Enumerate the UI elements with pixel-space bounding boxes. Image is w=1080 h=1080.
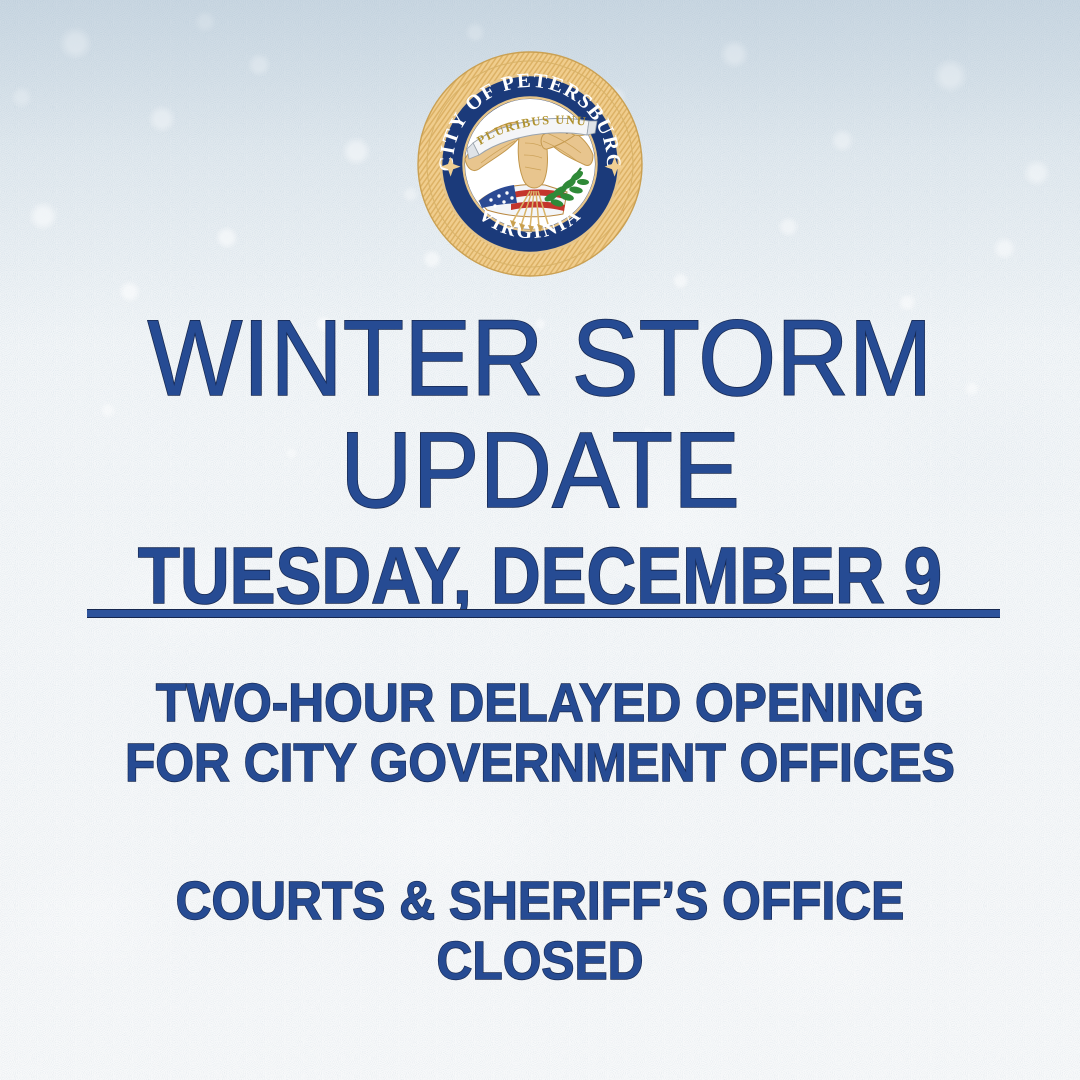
body-line-4: CLOSED (43, 934, 1037, 988)
body-line-3: COURTS & SHERIFF’S OFFICE (43, 874, 1037, 928)
winter-storm-update-poster: CITY OF PETERSBURG VIRGINIA (0, 0, 1080, 1080)
headline-line-1: WINTER STORM (38, 304, 1042, 412)
body-line-2: FOR CITY GOVERNMENT OFFICES (43, 736, 1037, 790)
poster-text-content: WINTER STORM UPDATE TUESDAY, DECEMBER 9 … (0, 0, 1080, 1080)
body-line-1: TWO-HOUR DELAYED OPENING (43, 676, 1037, 730)
date-line: TUESDAY, DECEMBER 9 (76, 536, 1005, 616)
headline-line-2: UPDATE (38, 416, 1042, 524)
date-underline (87, 609, 1000, 618)
